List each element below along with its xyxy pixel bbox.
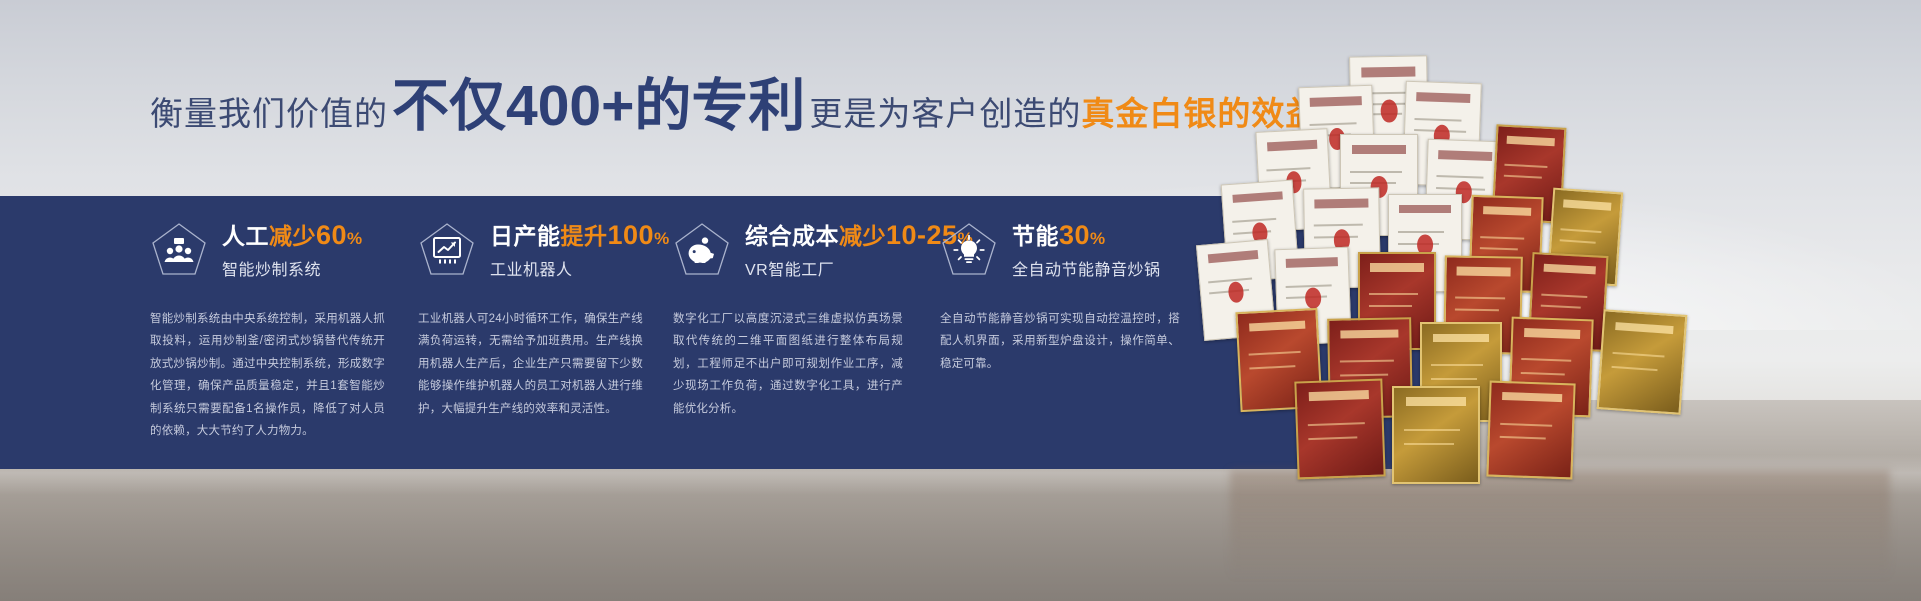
feature-text: 节能30% 全自动节能静音炒锅 bbox=[1012, 220, 1161, 280]
feature-header: 日产能提升100% 工业机器人 bbox=[418, 220, 670, 280]
feature-title-accent: 减少 bbox=[269, 223, 316, 249]
feature-header: 人工减少60% 智能炒制系统 bbox=[150, 220, 363, 280]
feature-title-prefix: 日产能 bbox=[490, 223, 561, 249]
feature-body-1: 智能炒制系统由中央系统控制，采用机器人抓取投料，运用炒制釜/密闭式炒锅替代传统开… bbox=[150, 308, 385, 443]
feature-title-number: 60 bbox=[316, 220, 347, 250]
feature-title-prefix: 综合成本 bbox=[745, 223, 839, 249]
headline-lead: 衡量我们价值的 bbox=[150, 87, 388, 135]
feature-body-4: 全自动节能静音炒锅可实现自动控温控时，搭配人机界面，采用新型炉盘设计，操作简单、… bbox=[940, 308, 1180, 375]
feature-body-2: 工业机器人可24小时循环工作，确保生产线满负荷运转，无需给予加班费用。生产线换用… bbox=[418, 308, 643, 420]
feature-header: 综合成本减少10-25% VR智能工厂 bbox=[673, 220, 973, 280]
headline-emphasis: 不仅400+的专利 bbox=[392, 78, 805, 135]
feature-subtitle: 全自动节能静音炒锅 bbox=[1012, 256, 1161, 280]
feature-title-unit: % bbox=[654, 229, 670, 248]
feature-text: 人工减少60% 智能炒制系统 bbox=[222, 220, 363, 280]
people-group-icon bbox=[150, 221, 208, 279]
certificate-plaque bbox=[1597, 309, 1688, 415]
feature-title-accent: 减少 bbox=[839, 223, 886, 249]
feature-text: 日产能提升100% 工业机器人 bbox=[490, 220, 670, 280]
feature-title-prefix: 节能 bbox=[1012, 223, 1059, 249]
piggy-bank-icon bbox=[673, 221, 731, 279]
feature-title-unit: % bbox=[1090, 229, 1106, 248]
feature-title: 综合成本减少10-25% bbox=[745, 220, 973, 251]
feature-title-prefix: 人工 bbox=[222, 223, 269, 249]
feature-item-1[interactable]: 人工减少60% 智能炒制系统 bbox=[150, 220, 363, 280]
certificate-plaque bbox=[1294, 378, 1385, 479]
feature-title: 人工减少60% bbox=[222, 220, 363, 251]
certificate-wall bbox=[1200, 30, 1921, 510]
headline-middle: 更是为客户创造的 bbox=[809, 87, 1081, 135]
feature-title: 日产能提升100% bbox=[490, 220, 670, 251]
feature-title-number: 100 bbox=[608, 220, 655, 250]
feature-title-number: 30 bbox=[1059, 220, 1090, 250]
feature-subtitle: VR智能工厂 bbox=[745, 256, 973, 280]
feature-title-unit: % bbox=[347, 229, 363, 248]
feature-subtitle: 工业机器人 bbox=[490, 256, 670, 280]
feature-subtitle: 智能炒制系统 bbox=[222, 256, 363, 280]
lightbulb-icon bbox=[940, 221, 998, 279]
feature-title: 节能30% bbox=[1012, 220, 1161, 251]
feature-body-3: 数字化工厂以高度沉浸式三维虚拟仿真场景取代传统的二维平面图纸进行整体布局规划，工… bbox=[673, 308, 903, 420]
feature-item-3[interactable]: 综合成本减少10-25% VR智能工厂 bbox=[673, 220, 973, 280]
feature-header: 节能30% 全自动节能静音炒锅 bbox=[940, 220, 1161, 280]
banner-stage: 衡量我们价值的 不仅400+的专利 更是为客户创造的 真金白银的效益 bbox=[0, 0, 1921, 601]
chart-board-icon bbox=[418, 221, 476, 279]
feature-item-2[interactable]: 日产能提升100% 工业机器人 bbox=[418, 220, 670, 280]
certificate-plaque bbox=[1486, 381, 1575, 480]
feature-item-4[interactable]: 节能30% 全自动节能静音炒锅 bbox=[940, 220, 1161, 280]
certificate-plaque bbox=[1392, 386, 1480, 484]
feature-title-accent: 提升 bbox=[561, 223, 608, 249]
feature-text: 综合成本减少10-25% VR智能工厂 bbox=[745, 220, 973, 280]
